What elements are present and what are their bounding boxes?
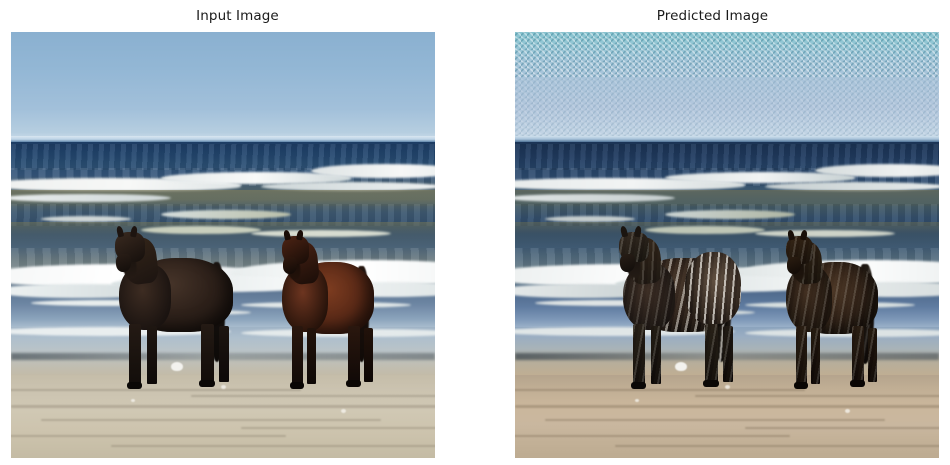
input-image-panel: Input Image [0,0,475,465]
input-sky [11,32,435,139]
predicted-image-title: Predicted Image [475,8,950,24]
predicted-image-panel: Predicted Image [475,0,950,465]
predicted-zebra-right [778,238,898,388]
checkerboard-artifact-strong [515,32,939,77]
predicted-sky [515,32,939,139]
figure-canvas: Input Image [0,0,950,465]
input-image-render [11,32,435,458]
input-image-title: Input Image [0,8,475,24]
input-horse-right [274,238,394,388]
predicted-image-render [515,32,939,458]
predicted-zebra-left [607,232,759,387]
input-horse-left [103,232,255,387]
